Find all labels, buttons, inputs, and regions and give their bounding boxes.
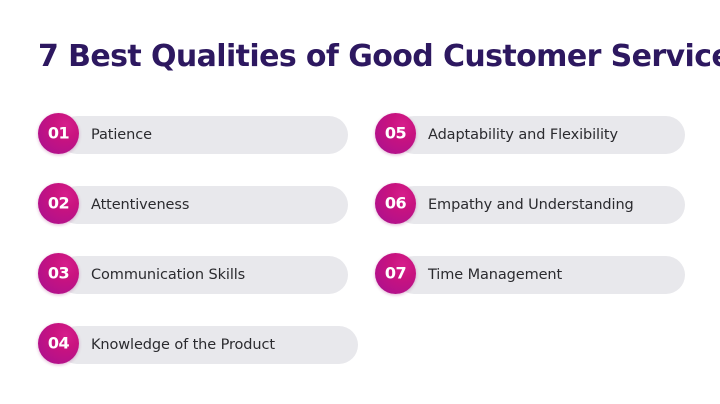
list-item-label: Patience bbox=[91, 116, 152, 154]
infographic-canvas: 7 Best Qualities of Good Customer Servic… bbox=[0, 0, 720, 404]
list-item-number: 04 bbox=[48, 335, 69, 351]
list-item-number: 07 bbox=[385, 265, 406, 281]
list-item-number-badge: 04 bbox=[38, 323, 79, 364]
list-item[interactable]: 04 Knowledge of the Product bbox=[38, 316, 360, 386]
list-item-label: Attentiveness bbox=[91, 186, 189, 224]
list-item-number-badge: 02 bbox=[38, 183, 79, 224]
list-item[interactable]: 01 Patience bbox=[38, 106, 360, 176]
list-item-number: 03 bbox=[48, 265, 69, 281]
list-item[interactable]: 05 Adaptability and Flexibility bbox=[375, 106, 687, 176]
list-item-label: Communication Skills bbox=[91, 256, 245, 294]
list-item[interactable]: 02 Attentiveness bbox=[38, 176, 360, 246]
list-item-label: Adaptability and Flexibility bbox=[428, 116, 618, 154]
list-item-label: Knowledge of the Product bbox=[91, 326, 275, 364]
list-item-number: 01 bbox=[48, 125, 69, 141]
qualities-list: 01 Patience 02 Attentiveness 03 Communic… bbox=[0, 106, 720, 386]
list-item[interactable]: 07 Time Management bbox=[375, 246, 687, 316]
list-item-label: Time Management bbox=[428, 256, 562, 294]
list-item-number-badge: 05 bbox=[375, 113, 416, 154]
list-item-number-badge: 01 bbox=[38, 113, 79, 154]
list-item-number-badge: 06 bbox=[375, 183, 416, 224]
list-item-number-badge: 03 bbox=[38, 253, 79, 294]
list-item[interactable]: 03 Communication Skills bbox=[38, 246, 360, 316]
list-item-number: 06 bbox=[385, 195, 406, 211]
list-item-label: Empathy and Understanding bbox=[428, 186, 634, 224]
list-item[interactable]: 06 Empathy and Understanding bbox=[375, 176, 687, 246]
list-item-number-badge: 07 bbox=[375, 253, 416, 294]
qualities-column-left: 01 Patience 02 Attentiveness 03 Communic… bbox=[38, 106, 360, 386]
list-item-number: 02 bbox=[48, 195, 69, 211]
qualities-column-right: 05 Adaptability and Flexibility 06 Empat… bbox=[375, 106, 687, 316]
page-title: 7 Best Qualities of Good Customer Servic… bbox=[38, 38, 698, 76]
list-item-number: 05 bbox=[385, 125, 406, 141]
